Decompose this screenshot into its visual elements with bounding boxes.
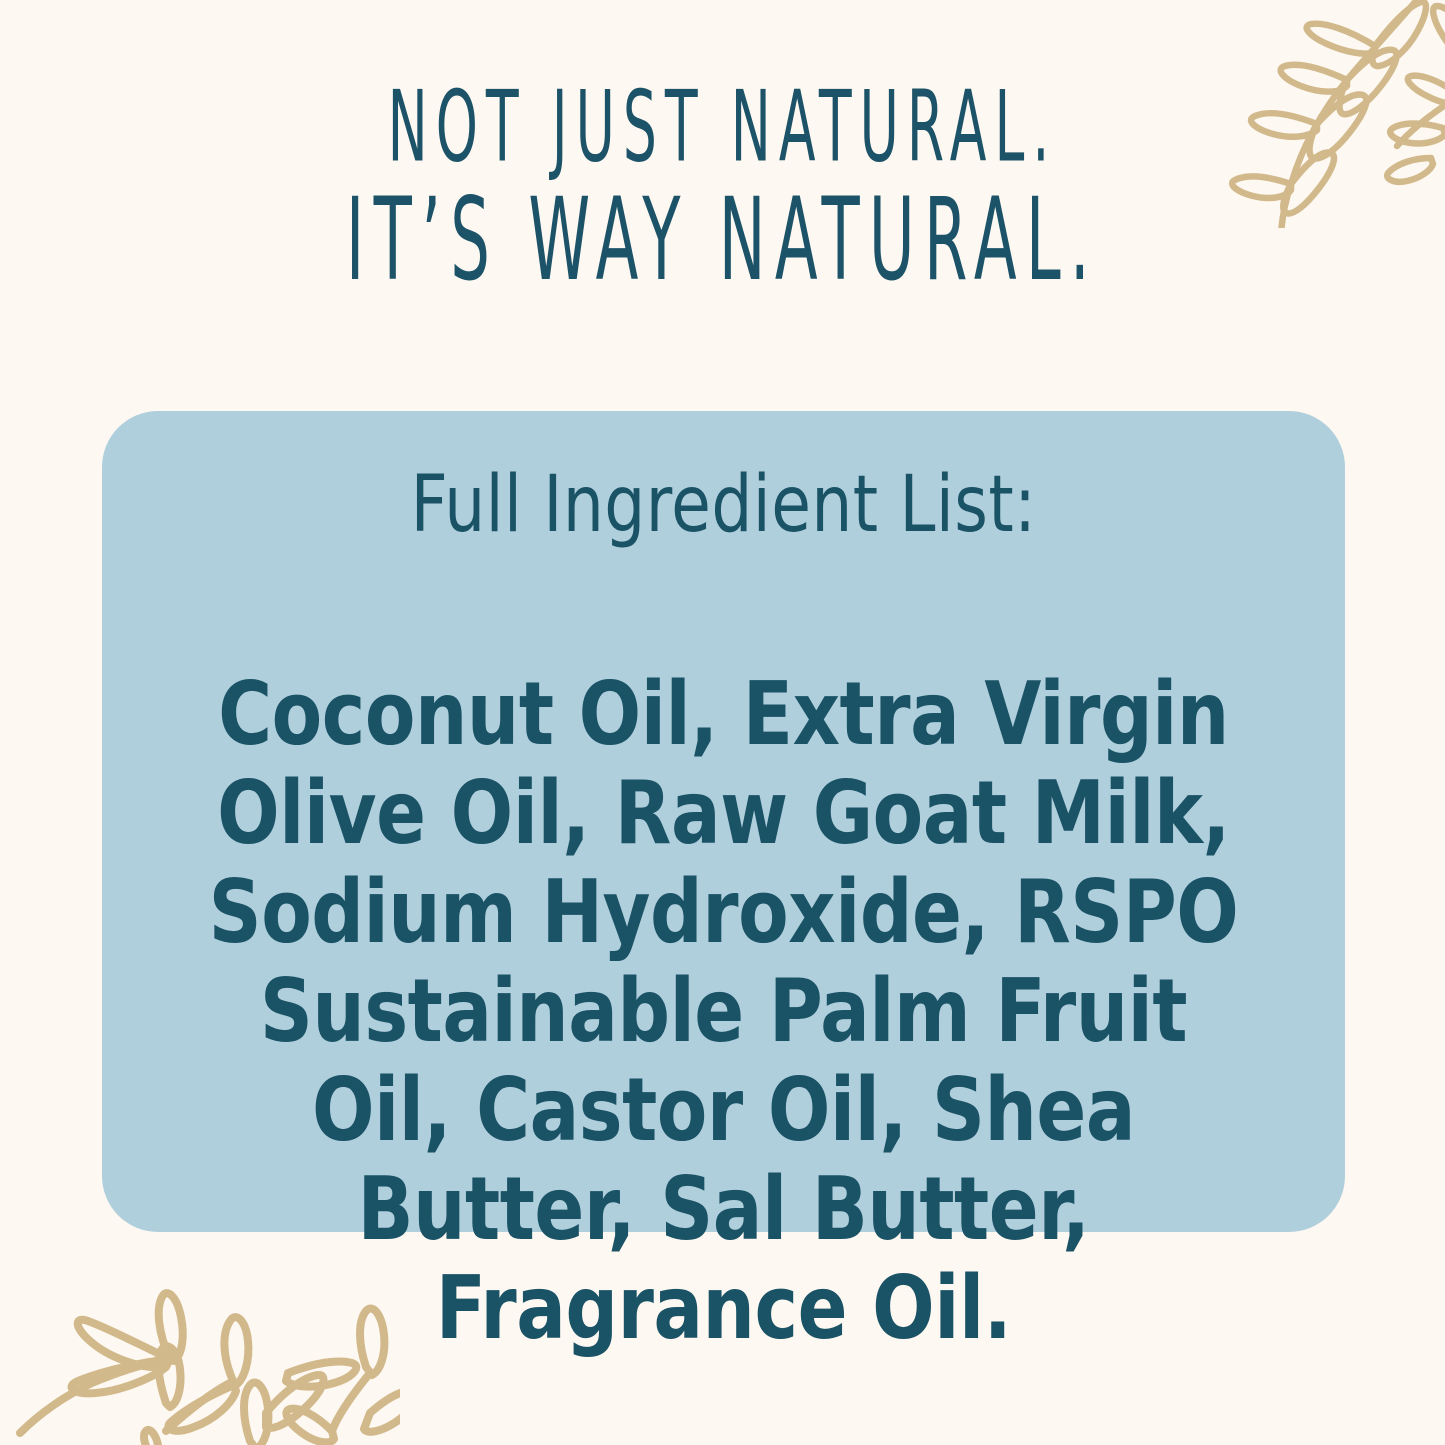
headline-line-1: NOT JUST NATURAL. bbox=[275, 78, 1171, 178]
ingredient-list-text: Coconut Oil, Extra Virgin Olive Oil, Raw… bbox=[188, 665, 1259, 1358]
ingredient-card: Full Ingredient List: Coconut Oil, Extra… bbox=[102, 411, 1345, 1232]
poster-canvas: NOT JUST NATURAL. IT’S WAY NATURAL. Full… bbox=[0, 0, 1445, 1445]
headline-line-2: IT’S WAY NATURAL. bbox=[275, 182, 1171, 299]
headline: NOT JUST NATURAL. IT’S WAY NATURAL. bbox=[0, 78, 1445, 296]
ingredient-list-title: Full Ingredient List: bbox=[200, 465, 1248, 547]
